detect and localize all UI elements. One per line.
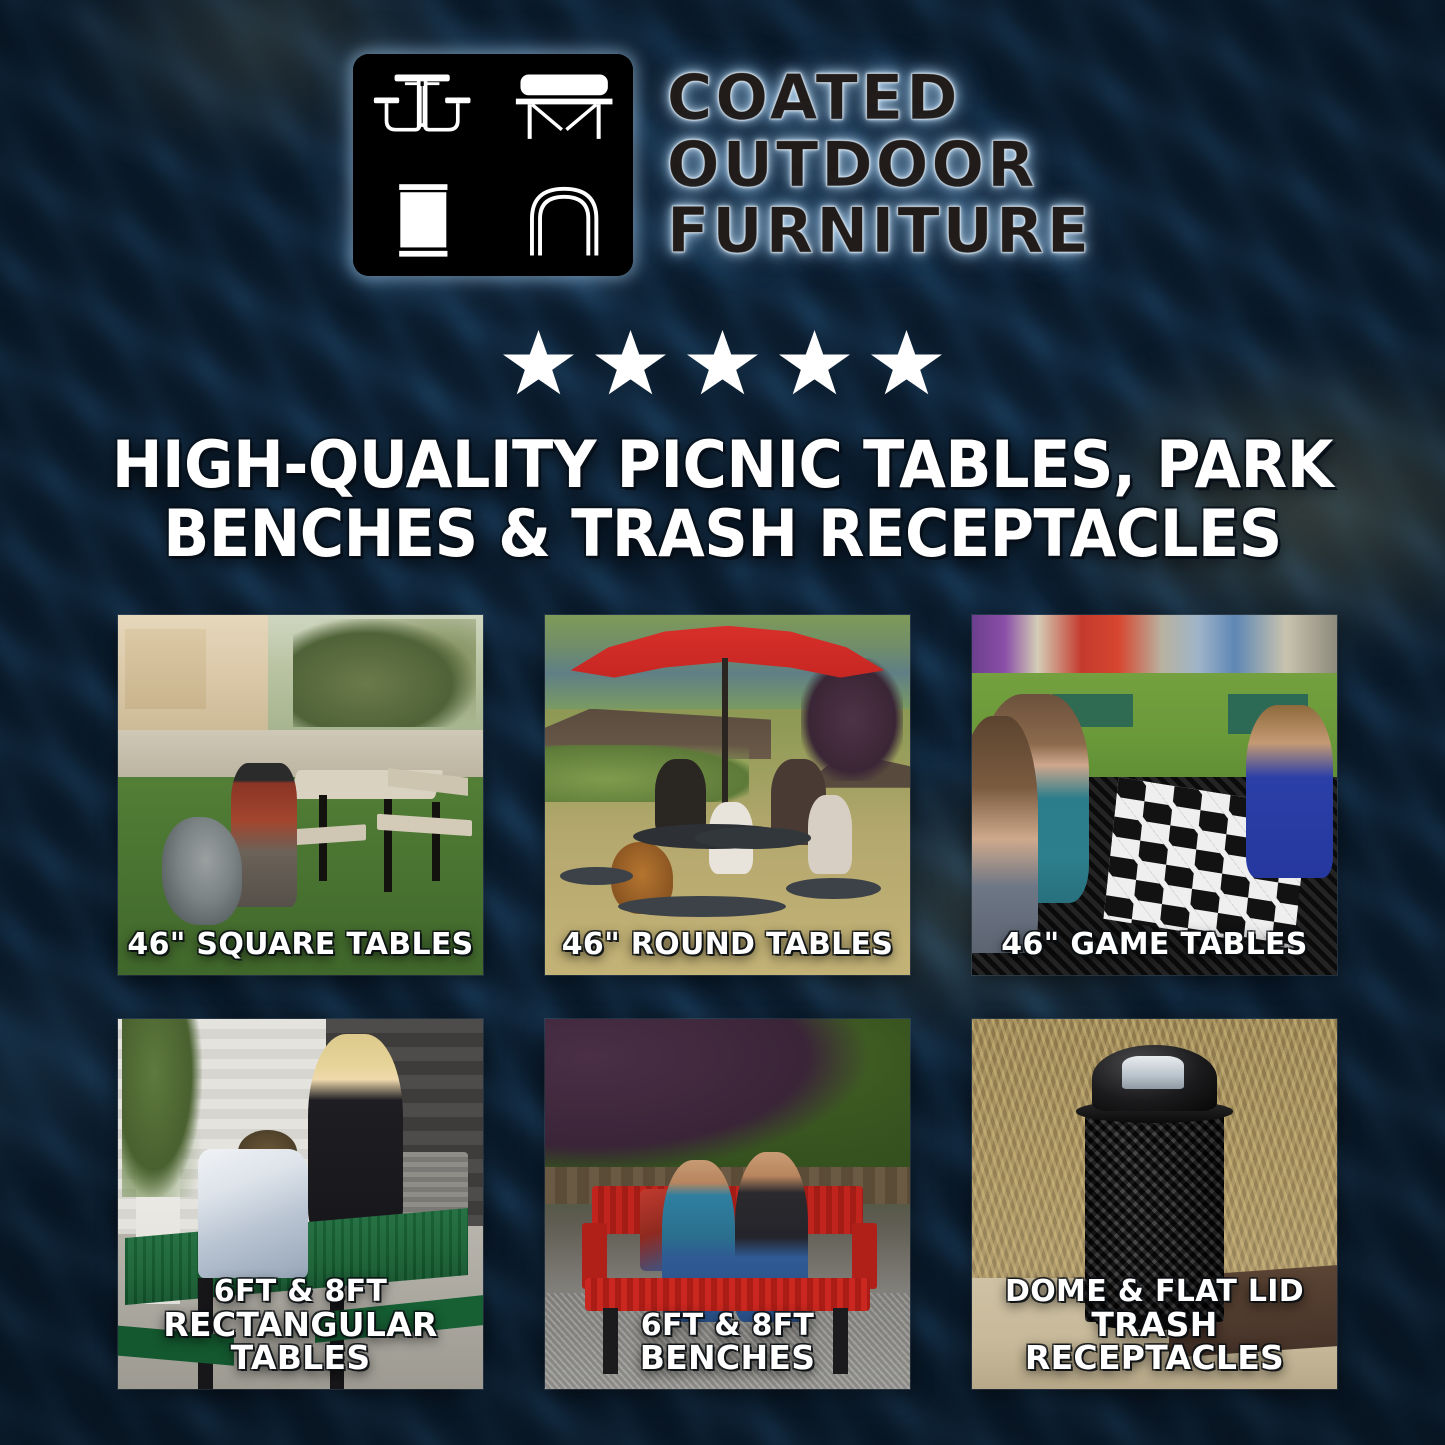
product-photo-game-tables (972, 615, 1337, 975)
caption-line-2: RECTANGULAR TABLES (118, 1308, 483, 1375)
caption-line-1: 6FT & 8FT (214, 1274, 387, 1309)
product-caption-square-tables: 46" SQUARE TABLES (118, 930, 483, 961)
product-caption-game-tables: 46" GAME TABLES (972, 930, 1337, 961)
caption-line-2: TRASH RECEPTACLES (972, 1308, 1337, 1375)
brand-logo (353, 54, 633, 276)
product-caption-benches: 6FT & 8FT BENCHES (545, 1311, 910, 1375)
brand-name-line-2: OUTDOOR (667, 133, 1092, 197)
product-caption-trash-receptacles: DOME & FLAT LID TRASH RECEPTACLES (972, 1277, 1337, 1375)
caption-line-1: 46" GAME TABLES (1001, 927, 1307, 962)
bench-side-icon (494, 54, 633, 164)
product-tile-benches[interactable]: 6FT & 8FT BENCHES (545, 1019, 910, 1389)
marketing-banner: COATED OUTDOOR FURNITURE HIGH-QUALITY PI… (0, 0, 1445, 1445)
trash-receptacle-icon (353, 167, 492, 277)
brand-name-line-3: FURNITURE (667, 199, 1092, 263)
headline: HIGH-QUALITY PICNIC TABLES, PARK BENCHES… (50, 432, 1395, 570)
caption-line-1: DOME & FLAT LID (1005, 1274, 1304, 1309)
brand-header: COATED OUTDOOR FURNITURE (0, 54, 1445, 276)
caption-line-1: 46" ROUND TABLES (562, 927, 893, 962)
bike-rack-arch-icon (494, 167, 633, 277)
star-icon (502, 330, 576, 400)
product-caption-rectangular-tables: 6FT & 8FT RECTANGULAR TABLES (118, 1277, 483, 1375)
product-tile-round-tables[interactable]: 46" ROUND TABLES (545, 615, 910, 975)
headline-line-2: BENCHES & TRASH RECEPTACLES (97, 501, 1348, 570)
product-grid: 46" SQUARE TABLES 46" ROUND TABLES (118, 615, 1325, 1389)
product-photo-square-tables (118, 615, 483, 975)
product-tile-square-tables[interactable]: 46" SQUARE TABLES (118, 615, 483, 975)
star-icon (870, 330, 944, 400)
caption-line-2: BENCHES (545, 1341, 910, 1375)
caption-line-1: 46" SQUARE TABLES (127, 927, 473, 962)
product-tile-trash-receptacles[interactable]: DOME & FLAT LID TRASH RECEPTACLES (972, 1019, 1337, 1389)
star-icon (594, 330, 668, 400)
product-tile-rectangular-tables[interactable]: 6FT & 8FT RECTANGULAR TABLES (118, 1019, 483, 1389)
brand-name-line-1: COATED (667, 66, 1092, 130)
rating-stars (0, 330, 1445, 400)
product-photo-round-tables (545, 615, 910, 975)
star-icon (686, 330, 760, 400)
product-tile-game-tables[interactable]: 46" GAME TABLES (972, 615, 1337, 975)
star-icon (778, 330, 852, 400)
headline-line-1: HIGH-QUALITY PICNIC TABLES, PARK (97, 432, 1348, 501)
product-caption-round-tables: 46" ROUND TABLES (545, 930, 910, 961)
picnic-table-front-icon (353, 54, 492, 164)
brand-wordmark: COATED OUTDOOR FURNITURE (667, 66, 1092, 263)
